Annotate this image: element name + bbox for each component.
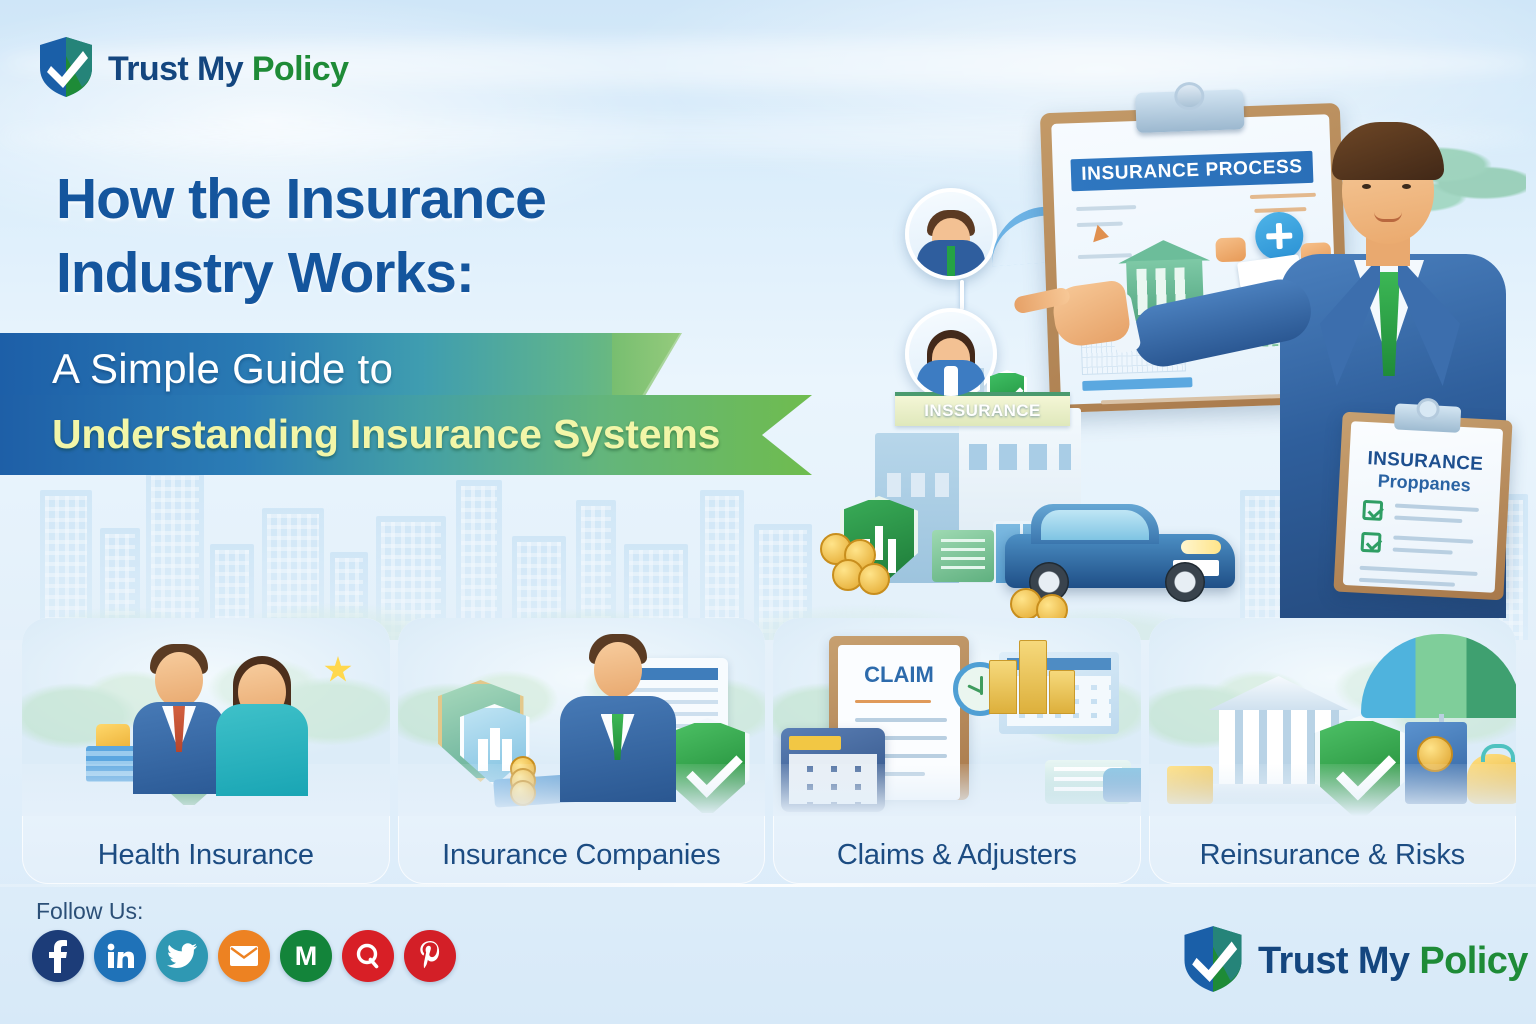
footer-divider bbox=[0, 884, 1536, 887]
card-reinsurance-risks[interactable]: Reinsurance & Risks bbox=[1149, 618, 1517, 884]
agent-avatar-male bbox=[905, 188, 997, 280]
follow-us-label: Follow Us: bbox=[36, 898, 143, 925]
subtitle-line-2: Understanding Insurance Systems bbox=[52, 411, 720, 458]
card-claims-adjusters[interactable]: CLAIM C bbox=[773, 618, 1141, 884]
clipboard-clip-icon bbox=[1394, 403, 1461, 432]
category-card-row: Health Insurance bbox=[22, 618, 1516, 884]
card-health-insurance[interactable]: Health Insurance bbox=[22, 618, 390, 884]
shield-check-icon bbox=[38, 36, 94, 103]
facebook-icon[interactable] bbox=[32, 930, 84, 982]
handshake-left-icon bbox=[1215, 237, 1246, 262]
quora-icon[interactable] bbox=[342, 930, 394, 982]
checkbox-checked-icon bbox=[1362, 500, 1383, 521]
checkbox-checked-icon bbox=[1361, 532, 1382, 553]
avatar-connector-line bbox=[960, 280, 964, 310]
subtitle-line-1: A Simple Guide to bbox=[52, 345, 393, 393]
pinterest-icon[interactable] bbox=[404, 930, 456, 982]
shield-check-icon bbox=[1182, 925, 1244, 998]
headline-line-2: Industry Works: bbox=[56, 236, 756, 310]
brand-logo-header[interactable]: Trust My Policy bbox=[38, 36, 348, 103]
building-sign: INSSURANCE bbox=[895, 392, 1070, 426]
brand-logo-footer[interactable]: Trust My Policy bbox=[1182, 925, 1528, 998]
card-label: Insurance Companies bbox=[398, 839, 766, 872]
clipboard-clip-icon bbox=[1135, 89, 1244, 133]
avatar-group bbox=[895, 188, 1015, 408]
claim-title-text: CLAIM bbox=[829, 662, 969, 688]
linkedin-icon[interactable] bbox=[94, 930, 146, 982]
insured-car bbox=[1005, 506, 1235, 602]
medium-icon[interactable]: M bbox=[280, 930, 332, 982]
person-female bbox=[204, 654, 320, 796]
insurance-agent-person: INSURANCE Proppanes bbox=[1250, 96, 1536, 616]
card-insurance-companies[interactable]: Insurance Companies bbox=[398, 618, 766, 884]
brand-name: Trust My Policy bbox=[108, 50, 348, 89]
person-agent bbox=[548, 632, 688, 802]
social-links: M bbox=[32, 930, 456, 982]
subtitle-ribbon: A Simple Guide to Understanding Insuranc… bbox=[0, 333, 840, 475]
brand-name: Trust My Policy bbox=[1258, 940, 1528, 983]
twitter-icon[interactable] bbox=[156, 930, 208, 982]
cash-bundle-icon bbox=[932, 530, 994, 582]
agent-avatar-female bbox=[905, 308, 997, 400]
policy-clipboard-handheld: INSURANCE Proppanes bbox=[1333, 412, 1512, 601]
building-sign-text: INSSURANCE bbox=[924, 401, 1040, 421]
ribbon-notch bbox=[612, 333, 702, 401]
headline-line-1: How the Insurance bbox=[56, 162, 756, 236]
page-title: How the Insurance Industry Works: bbox=[56, 162, 756, 310]
hero-illustration: INSURANCE PROCESS MOBEE bbox=[840, 78, 1536, 618]
card-label: Reinsurance & Risks bbox=[1149, 839, 1517, 872]
progress-bar-thumbnail bbox=[1082, 377, 1192, 391]
card-label: Claims & Adjusters bbox=[773, 839, 1141, 872]
card-label: Health Insurance bbox=[22, 839, 390, 872]
infographic-page: Trust My Policy How the Insurance Indust… bbox=[0, 0, 1536, 1024]
email-icon[interactable] bbox=[218, 930, 270, 982]
